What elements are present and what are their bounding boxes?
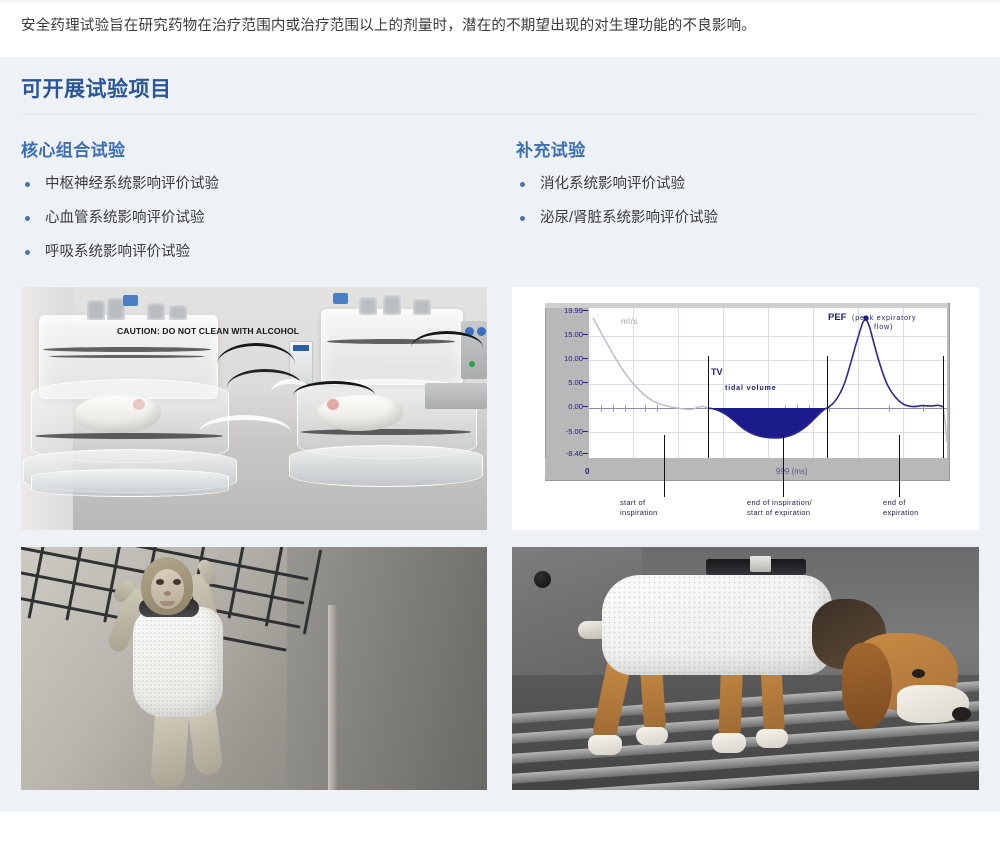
marker-start-of-inspiration xyxy=(708,356,709,458)
annotation-end-of-inspiration: end of inspiration/ start of expiration xyxy=(747,498,867,517)
list-item-label: 中枢神经系统影响评价试验 xyxy=(45,176,219,192)
supplemental-test-list: 消化系统影响评价试验 泌尿/肾脏系统影响评价试验 xyxy=(516,175,986,228)
photo-monkey-jacket[interactable] xyxy=(21,547,487,790)
y-tick-label: 5.00 xyxy=(568,378,583,387)
core-test-list: 中枢神经系统影响评价试验 心血管系统影响评价试验 呼吸系统影响评价试验 xyxy=(21,175,491,262)
annotation-end-of-expiration: end of expiration xyxy=(883,498,973,517)
list-item[interactable]: 泌尿/肾脏系统影响评价试验 xyxy=(516,209,986,228)
list-item[interactable]: 消化系统影响评价试验 xyxy=(516,175,986,194)
column-heading-supplemental: 补充试验 xyxy=(516,136,986,161)
bullet-icon xyxy=(25,216,30,221)
y-axis: 19.99 15.00 10.00 5.00 0.00 -5.00 xyxy=(545,308,589,458)
rodent-plethysmography-image: CAUTION: DO NOT CLEAN WITH ALCOHOL xyxy=(21,287,487,530)
photo-respiratory-flow-chart[interactable]: 19.99 15.00 10.00 5.00 0.00 -5.00 xyxy=(512,287,979,530)
page-title: 可开展试验项目 xyxy=(21,73,172,103)
x-start-label: 0 xyxy=(585,467,589,476)
monkey-telemetry-image xyxy=(21,547,487,790)
pef-sublabel: (peak expiratory flow) xyxy=(852,313,962,331)
intro-paragraph: 安全药理试验旨在研究药物在治疗范围内或治疗范围以上的剂量时，潜在的不期望出现的对… xyxy=(21,14,981,38)
harness-buckle xyxy=(750,556,771,572)
photo-rodent-chambers[interactable]: CAUTION: DO NOT CLEAN WITH ALCOHOL xyxy=(21,287,487,530)
list-item-label: 心血管系统影响评价试验 xyxy=(45,210,205,226)
annotation-start-of-inspiration: start of inspiration xyxy=(620,498,710,517)
intro-band: 安全药理试验旨在研究药物在治疗范围内或治疗范围以上的剂量时，潜在的不期望出现的对… xyxy=(0,0,1000,57)
top-divider xyxy=(0,0,1000,3)
list-item[interactable]: 中枢神经系统影响评价试验 xyxy=(21,175,491,194)
leader-start-of-inspiration xyxy=(664,435,665,497)
media-row-top: CAUTION: DO NOT CLEAN WITH ALCOHOL xyxy=(21,287,979,530)
y-tick-label: 15.00 xyxy=(564,330,583,339)
list-item[interactable]: 心血管系统影响评价试验 xyxy=(21,209,491,228)
photo-dog-jacket[interactable] xyxy=(512,547,979,790)
list-item[interactable]: 呼吸系统影响评价试验 xyxy=(21,243,491,262)
marker-end-of-expiration xyxy=(943,356,944,458)
x-end-label: 999 (ms) xyxy=(776,467,808,476)
leader-end-of-expiration xyxy=(899,435,900,497)
pef-label: PEF xyxy=(828,312,846,323)
chart-card: 19.99 15.00 10.00 5.00 0.00 -5.00 xyxy=(512,287,979,530)
bullet-icon xyxy=(520,182,525,187)
bullet-icon xyxy=(520,216,525,221)
tv-sublabel: tidal volume xyxy=(725,383,777,392)
y-unit-label: ml/s xyxy=(621,317,638,326)
leader-end-of-inspiration xyxy=(783,435,784,497)
list-item-label: 消化系统影响评价试验 xyxy=(540,176,685,192)
list-item-label: 泌尿/肾脏系统影响评价试验 xyxy=(540,210,718,226)
title-divider xyxy=(21,114,979,115)
tv-label: TV xyxy=(711,367,723,377)
bullet-icon xyxy=(25,250,30,255)
y-tick-label: -8.46 xyxy=(566,449,583,458)
y-tick-label: -5.00 xyxy=(566,427,583,436)
y-tick-label: 0.00 xyxy=(568,402,583,411)
marker-end-of-inspiration xyxy=(827,356,828,458)
page-root: 安全药理试验旨在研究药物在治疗范围内或治疗范围以上的剂量时，潜在的不期望出现的对… xyxy=(0,0,1000,850)
y-tick-label: 19.99 xyxy=(564,306,583,315)
column-supplemental-tests: 补充试验 消化系统影响评价试验 泌尿/肾脏系统影响评价试验 xyxy=(516,136,986,243)
beagle-telemetry-image xyxy=(512,547,979,790)
list-item-label: 呼吸系统影响评价试验 xyxy=(45,244,190,260)
media-row-bottom xyxy=(21,547,979,790)
chart-bottom-strip xyxy=(545,458,948,479)
flow-chart: 19.99 15.00 10.00 5.00 0.00 -5.00 xyxy=(545,303,948,479)
media-gallery: CAUTION: DO NOT CLEAN WITH ALCOHOL xyxy=(21,287,979,807)
wall-bolt xyxy=(534,571,551,588)
inspiration-curve xyxy=(593,318,708,409)
y-tick-label: 10.00 xyxy=(564,354,583,363)
column-core-tests: 核心组合试验 中枢神经系统影响评价试验 心血管系统影响评价试验 呼吸系统影响评价… xyxy=(21,136,491,277)
caution-label: CAUTION: DO NOT CLEAN WITH ALCOHOL xyxy=(117,326,317,336)
bullet-icon xyxy=(25,182,30,187)
column-heading-core: 核心组合试验 xyxy=(21,136,491,161)
